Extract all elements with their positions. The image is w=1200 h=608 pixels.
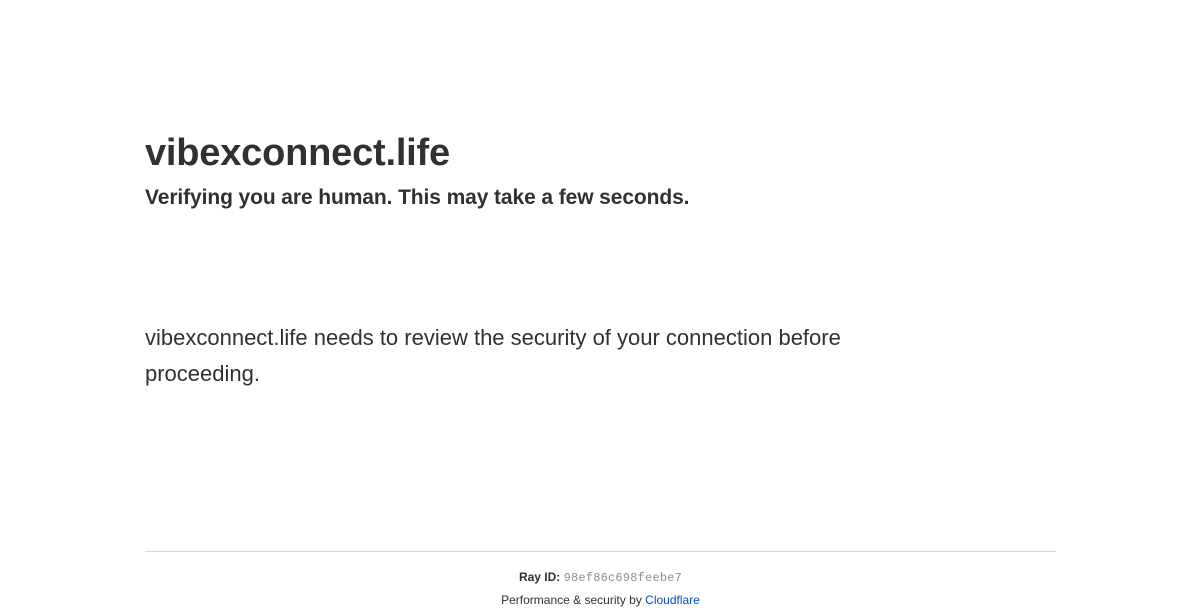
security-explanation-text: vibexconnect.life needs to review the se… bbox=[145, 308, 945, 392]
challenge-content: vibexconnect.life Verifying you are huma… bbox=[145, 130, 1056, 392]
attribution-prefix-text: Performance & security by bbox=[501, 593, 645, 607]
ray-id-value: 98ef86c698feebe7 bbox=[564, 571, 682, 585]
turnstile-widget-placeholder[interactable] bbox=[145, 230, 465, 308]
turnstile-widget-container[interactable] bbox=[145, 230, 465, 308]
cloudflare-link[interactable]: Cloudflare bbox=[645, 593, 700, 607]
page-title: vibexconnect.life bbox=[145, 130, 1056, 176]
verification-status-text: Verifying you are human. This may take a… bbox=[145, 184, 1056, 212]
challenge-page: vibexconnect.life Verifying you are huma… bbox=[0, 0, 1200, 600]
ray-id-line: Ray ID: 98ef86c698feebe7 bbox=[145, 569, 1056, 586]
page-footer: Ray ID: 98ef86c698feebe7 Performance & s… bbox=[145, 551, 1056, 608]
ray-id-label: Ray ID: bbox=[519, 570, 560, 584]
attribution-line: Performance & security by Cloudflare bbox=[145, 592, 1056, 608]
